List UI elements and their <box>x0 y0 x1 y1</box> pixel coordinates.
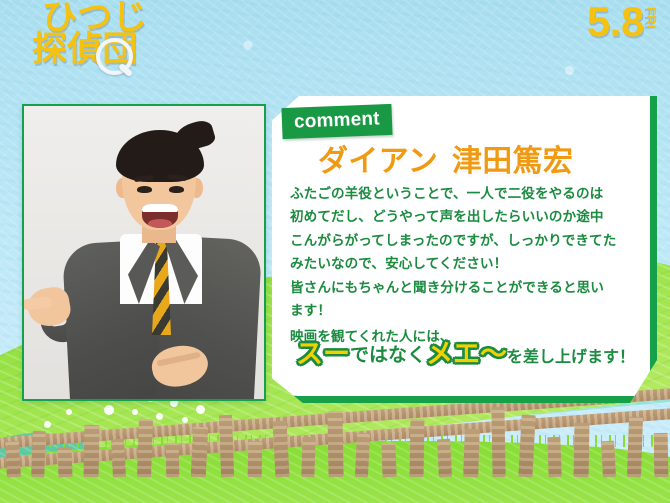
fence-picket <box>518 415 535 478</box>
fence-picket <box>5 441 21 478</box>
fence-picket <box>248 441 263 477</box>
fence-picket <box>191 427 209 478</box>
comment-body-line: みたいなので、安心してください！ <box>290 252 638 275</box>
punchline-part-su: スー <box>296 339 350 369</box>
fence-picket <box>491 407 505 477</box>
fence-picket <box>219 415 234 477</box>
commenter-name-family: ダイアン <box>318 145 438 178</box>
fence-picket <box>547 437 561 477</box>
comment-body-line: 皆さんにもちゃんと聞き分けることができると思い <box>290 276 638 299</box>
fence-picket <box>57 447 72 477</box>
fence-picket <box>84 425 100 477</box>
fence-picket <box>601 441 616 478</box>
photo-mouth <box>142 204 178 228</box>
commenter-name-given: 津田篤宏 <box>452 145 573 178</box>
fence-picket <box>273 421 290 478</box>
comment-body-line: こんがらがってしまったのですが、しっかりできてた <box>290 229 638 252</box>
release-date: 5.8 FRI <box>587 1 658 43</box>
fence-picket <box>381 443 396 477</box>
photo-eye-left <box>137 186 152 193</box>
fence-picket <box>437 439 452 478</box>
fence-picket <box>574 423 590 477</box>
fence-picket <box>111 439 126 478</box>
program-logo: ひつじ 探偵団 <box>8 2 188 80</box>
fence-picket <box>166 443 180 477</box>
comment-body-line: ます！ <box>290 299 638 322</box>
fence-picket <box>409 419 424 477</box>
portrait-photo-frame <box>22 104 266 401</box>
comment-punchline: スーではなくメエ〜を差し上げます！ <box>296 341 635 368</box>
fence-picket <box>355 433 370 478</box>
comment-tag: comment <box>281 104 392 139</box>
fence-picket <box>654 433 669 477</box>
release-date-weekday: FRI <box>645 7 658 29</box>
comment-body-line: 初めてだし、どうやって声を出したらいいのか途中 <box>290 205 638 228</box>
photo-eye-right <box>169 186 184 193</box>
punchline-part-mee: メエ〜 <box>426 339 507 369</box>
fence-picket <box>301 437 315 477</box>
release-date-day: 5.8 <box>587 1 644 43</box>
magnifier-icon <box>96 38 132 74</box>
comment-body-line: ふたごの羊役ということで、一人で二役をやるのは <box>290 182 638 205</box>
comment-body: ふたごの羊役ということで、一人で二役をやるのは 初めてだし、どうやって声を出した… <box>290 182 638 322</box>
commenter-name: ダイアン津田篤宏 <box>318 136 573 180</box>
fence-picket <box>627 417 643 477</box>
fence-picket <box>137 419 153 477</box>
portrait-photo <box>24 106 264 399</box>
punchline-part-dewanaku: ではなく <box>350 345 426 366</box>
fence-picket <box>31 431 46 477</box>
poster-canvas: ひつじ 探偵団 5.8 FRI <box>0 0 670 503</box>
fence-picket <box>463 429 480 477</box>
fence-picket <box>327 411 343 477</box>
punchline-part-sashiagemasu: を差し上げます！ <box>507 349 635 366</box>
